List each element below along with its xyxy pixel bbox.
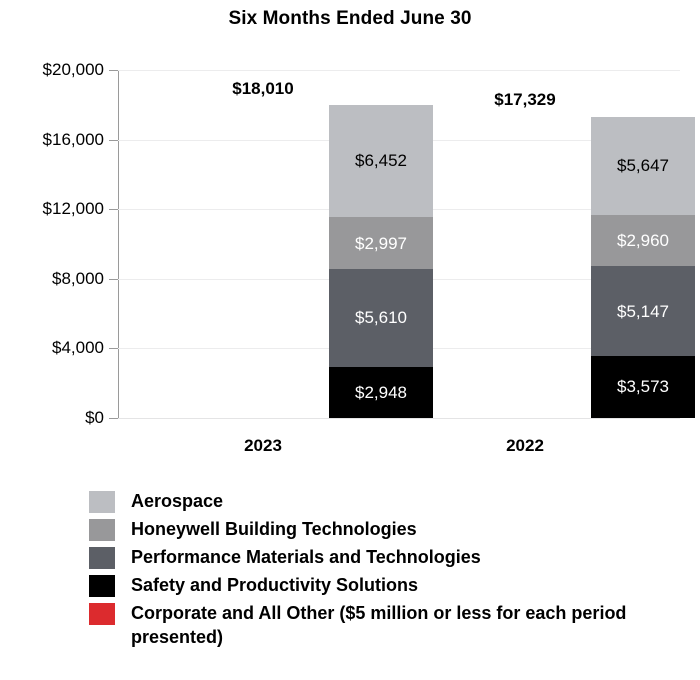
legend-label: Safety and Productivity Solutions [131,574,418,598]
y-axis-tick [109,140,118,141]
bar-segment-value-label: $2,997 [355,235,407,252]
y-axis-tick-label: $16,000 [4,130,104,150]
y-axis-tick-label: $8,000 [4,269,104,289]
y-axis-tick-label: $4,000 [4,338,104,358]
bar-segment[interactable]: $2,948 [329,367,433,418]
bar-total-label: $18,010 [163,79,363,99]
legend-swatch [89,603,115,625]
legend-label: Performance Materials and Technologies [131,546,481,570]
legend-item[interactable]: Honeywell Building Technologies [89,518,649,542]
bar-segment-value-label: $2,960 [617,232,669,249]
chart-legend: AerospaceHoneywell Building Technologies… [89,490,649,654]
y-axis-tick-label: $20,000 [4,60,104,80]
x-axis-category-label: 2022 [425,436,625,456]
bar-segment[interactable]: $5,647 [591,117,695,215]
y-axis-tick-label: $0 [4,408,104,428]
gridline [118,418,680,419]
bar-group[interactable]: $3,573$5,147$2,960$5,647 [591,70,695,418]
legend-swatch [89,547,115,569]
bar-segment[interactable]: $3,573 [591,356,695,418]
legend-item[interactable]: Performance Materials and Technologies [89,546,649,570]
y-axis-tick-label: $12,000 [4,199,104,219]
bar-segment-value-label: $6,452 [355,152,407,169]
legend-label: Corporate and All Other ($5 million or l… [131,602,649,650]
bar-segment-value-label: $5,647 [617,157,669,174]
bar-segment-value-label: $5,147 [617,303,669,320]
bar-segment[interactable]: $2,997 [329,217,433,269]
bar-group[interactable]: $2,948$5,610$2,997$6,452 [329,70,433,418]
legend-item[interactable]: Corporate and All Other ($5 million or l… [89,602,649,650]
bar-segment-value-label: $5,610 [355,309,407,326]
x-axis-category-label: 2023 [163,436,363,456]
legend-swatch [89,519,115,541]
bar-segment[interactable]: $2,960 [591,215,695,267]
bar-segment[interactable]: $5,147 [591,266,695,356]
y-axis-tick [109,418,118,419]
bar-segment-value-label: $2,948 [355,384,407,401]
y-axis-tick [109,348,118,349]
bar-segment[interactable]: $6,452 [329,105,433,217]
bar-total-label: $17,329 [425,90,625,110]
plot-area: $2,948$5,610$2,997$6,452$3,573$5,147$2,9… [118,70,680,418]
legend-label: Honeywell Building Technologies [131,518,417,542]
chart-title: Six Months Ended June 30 [0,8,700,30]
y-axis-tick [109,279,118,280]
legend-swatch [89,575,115,597]
legend-item[interactable]: Aerospace [89,490,649,514]
bar-segment[interactable]: $5,610 [329,269,433,367]
y-axis-tick [109,209,118,210]
bar-segment-value-label: $3,573 [617,378,669,395]
legend-swatch [89,491,115,513]
legend-label: Aerospace [131,490,223,514]
legend-item[interactable]: Safety and Productivity Solutions [89,574,649,598]
y-axis-tick [109,70,118,71]
